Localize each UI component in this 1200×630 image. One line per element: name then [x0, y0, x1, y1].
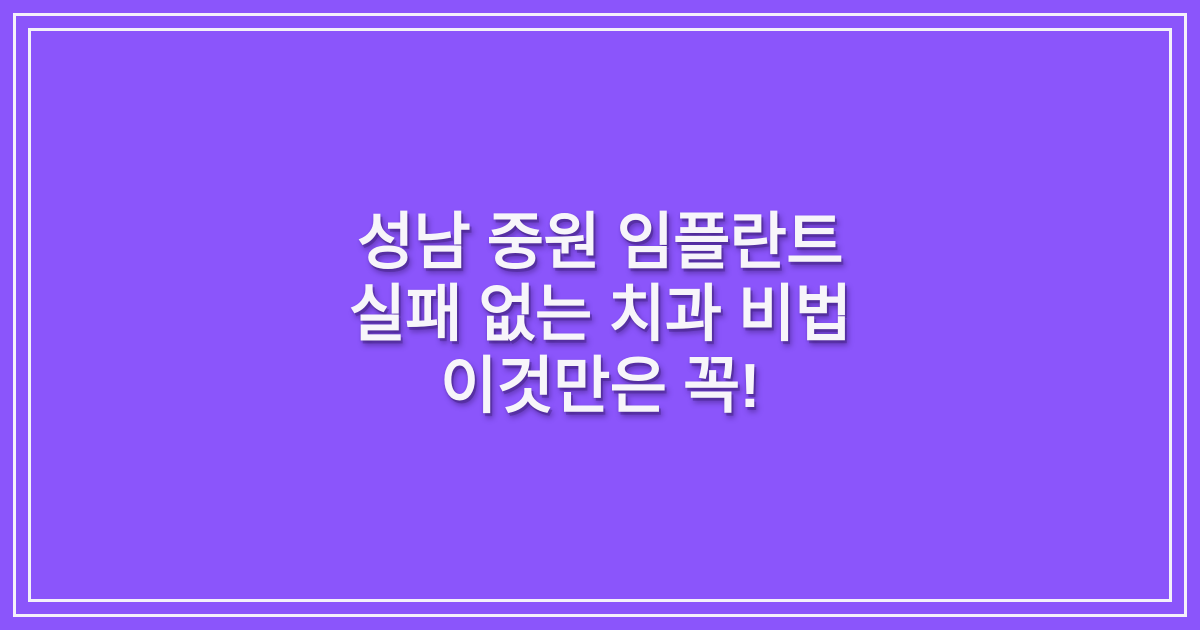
headline-block: 성남 중원 임플란트 실패 없는 치과 비법 이것만은 꼭!: [0, 0, 1200, 630]
headline-line-2: 실패 없는 치과 비법: [70, 279, 1130, 351]
headline-line-3: 이것만은 꼭!: [70, 351, 1130, 423]
headline-line-1: 성남 중원 임플란트: [70, 207, 1130, 279]
share-card-canvas: 성남 중원 임플란트 실패 없는 치과 비법 이것만은 꼭!: [0, 0, 1200, 630]
